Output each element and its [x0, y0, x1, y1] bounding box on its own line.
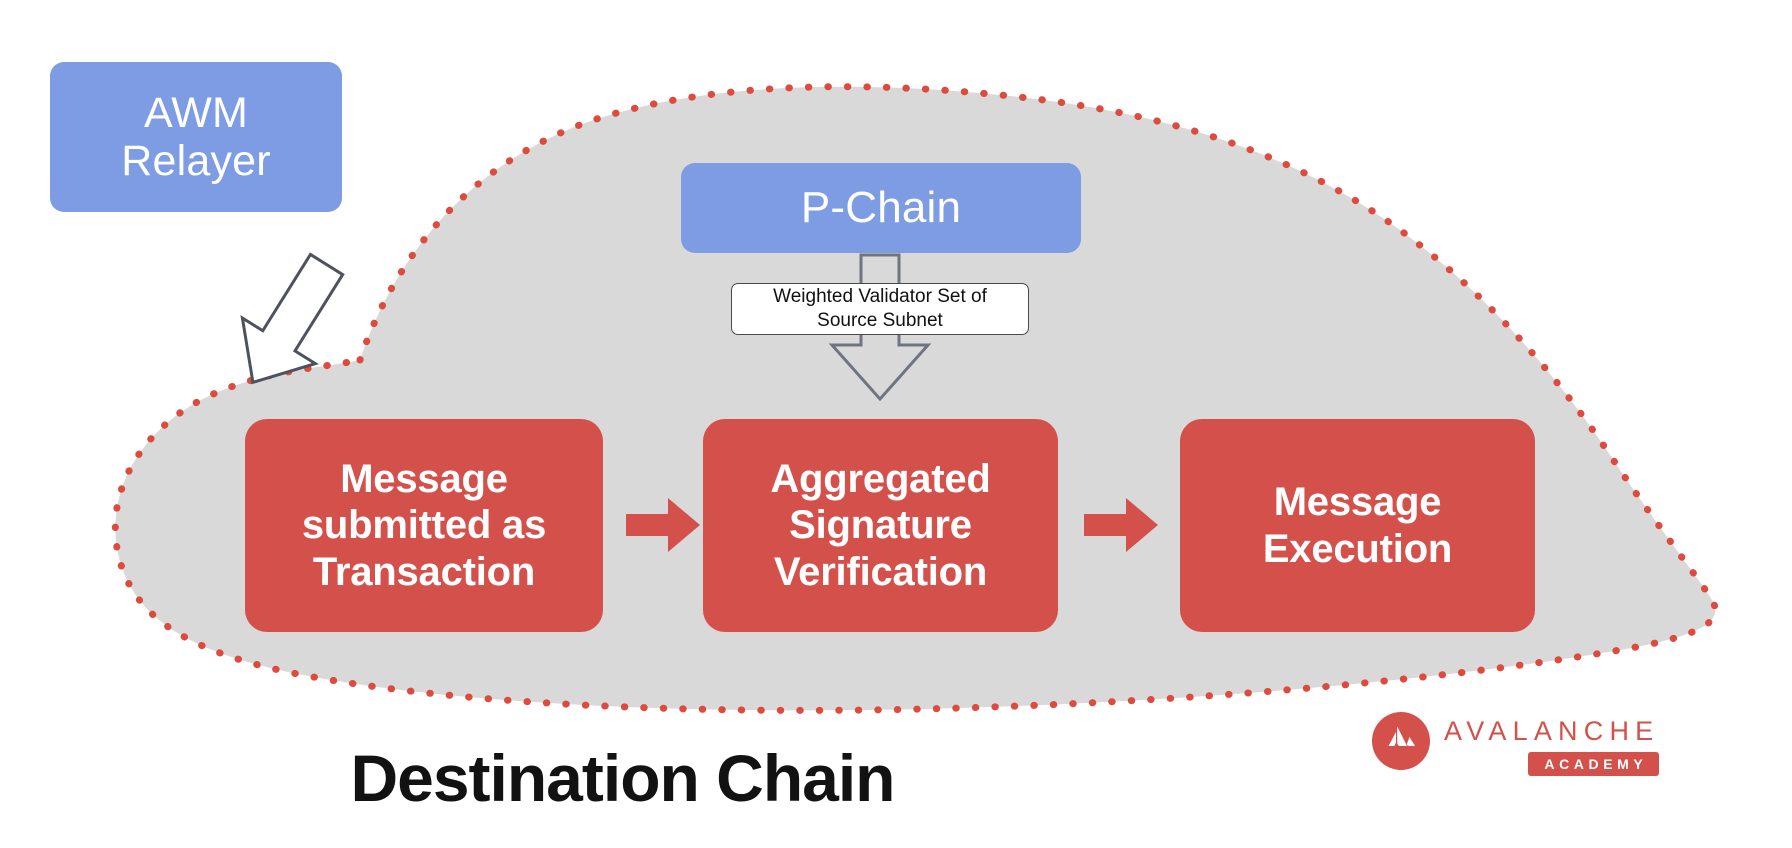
- node-awm-relayer: AWM Relayer: [50, 62, 342, 212]
- page-title: Destination Chain: [0, 740, 1245, 816]
- step3-line1: Message: [1274, 480, 1442, 524]
- awm-relayer-line1: AWM: [144, 89, 248, 137]
- step1-line1: Message: [340, 457, 508, 501]
- node-message-execution: Message Execution: [1180, 419, 1535, 632]
- step2-line3: Verification: [774, 550, 987, 594]
- label-weighted-validator-set: Weighted Validator Set of Source Subnet: [731, 283, 1029, 335]
- avalanche-a-mark-icon: [1372, 712, 1430, 770]
- step2-line1: Aggregated: [770, 457, 990, 501]
- step1-line2: submitted as: [302, 503, 546, 547]
- step2-line2: Signature: [789, 503, 972, 547]
- node-p-chain: P-Chain: [681, 163, 1081, 253]
- avalanche-academy-logo: AVALANCHE ACADEMY: [1372, 712, 1662, 792]
- step1-to-step2-arrow-icon: [624, 494, 702, 556]
- step3-line2: Execution: [1263, 527, 1452, 571]
- node-message-submitted-as-transaction: Message submitted as Transaction: [245, 419, 603, 632]
- logo-wordmark: AVALANCHE: [1444, 718, 1659, 745]
- awm-relayer-line2: Relayer: [121, 137, 271, 185]
- step2-to-step3-arrow-icon: [1082, 494, 1160, 556]
- step1-line3: Transaction: [313, 550, 535, 594]
- relayer-to-chain-arrow-icon: [225, 248, 355, 398]
- logo-academy-badge: ACADEMY: [1528, 752, 1659, 776]
- p-chain-label: P-Chain: [801, 183, 961, 232]
- diagram-canvas: AWM Relayer P-Chain Weighted Validator S…: [0, 0, 1792, 848]
- node-aggregated-signature-verification: Aggregated Signature Verification: [703, 419, 1058, 632]
- validator-label-line2: Source Subnet: [817, 310, 943, 331]
- validator-label-line1: Weighted Validator Set of: [773, 286, 987, 307]
